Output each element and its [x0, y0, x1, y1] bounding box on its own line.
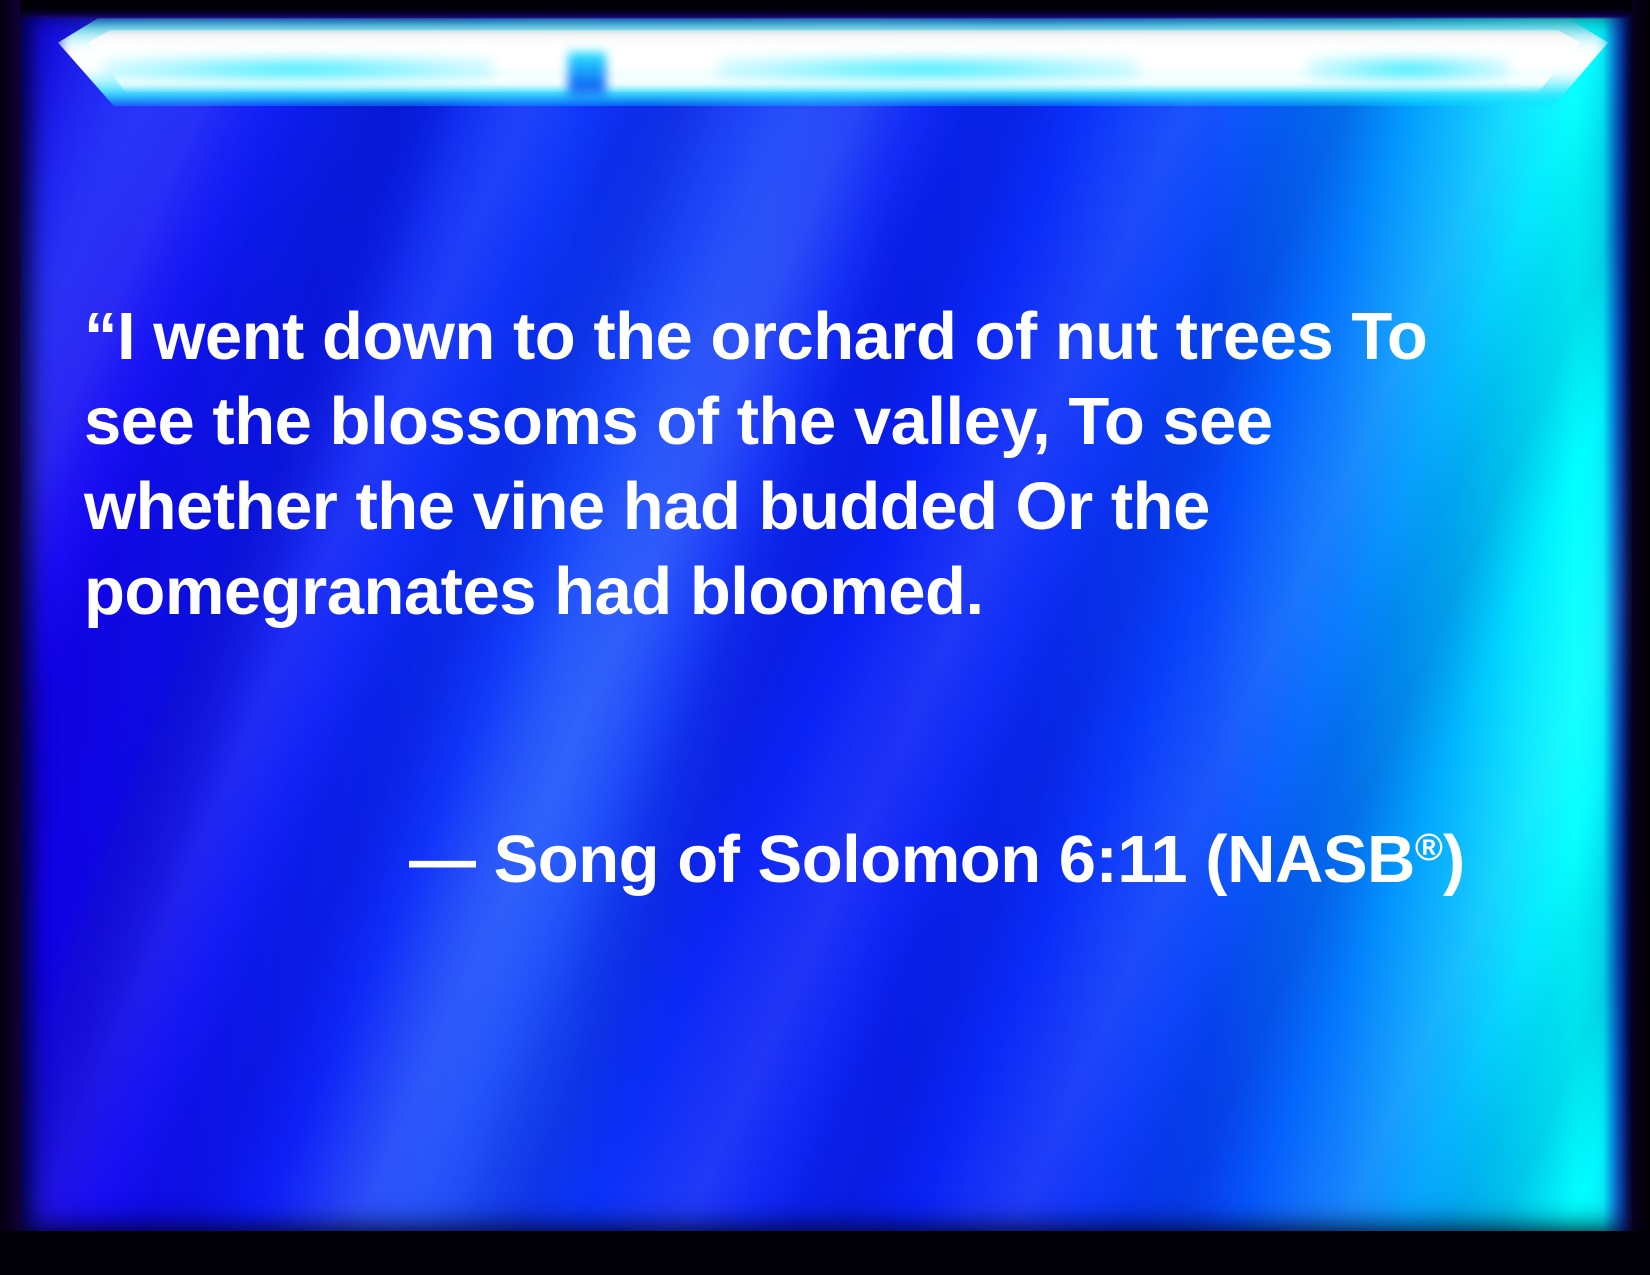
attribution-main-text: — Song of Solomon 6:11 (NASB — [409, 822, 1415, 897]
top-glow-blob-left — [103, 56, 493, 82]
top-glow-bar — [18, 8, 1632, 118]
frame-border-bottom — [0, 1231, 1650, 1275]
slide-canvas: “I went down to the orchard of nut trees… — [18, 8, 1632, 1233]
attribution-closing-paren: ) — [1443, 822, 1465, 897]
frame-border-top — [0, 0, 1650, 9]
verse-slide: “I went down to the orchard of nut trees… — [0, 0, 1650, 1275]
top-glow-blob-right — [1308, 56, 1508, 82]
top-edge-shadow — [18, 8, 1632, 19]
verse-attribution: — Song of Solomon 6:11 (NASB®) — [84, 806, 1504, 902]
registered-trademark-icon: ® — [1415, 827, 1443, 869]
frame-border-right — [1632, 0, 1650, 1275]
verse-text-block: “I went down to the orchard of nut trees… — [84, 124, 1504, 1072]
top-glow-blob-center — [718, 56, 1138, 82]
frame-border-left — [0, 0, 20, 1275]
verse-body-text: “I went down to the orchard of nut trees… — [84, 294, 1504, 634]
top-glow-notch — [568, 52, 606, 100]
